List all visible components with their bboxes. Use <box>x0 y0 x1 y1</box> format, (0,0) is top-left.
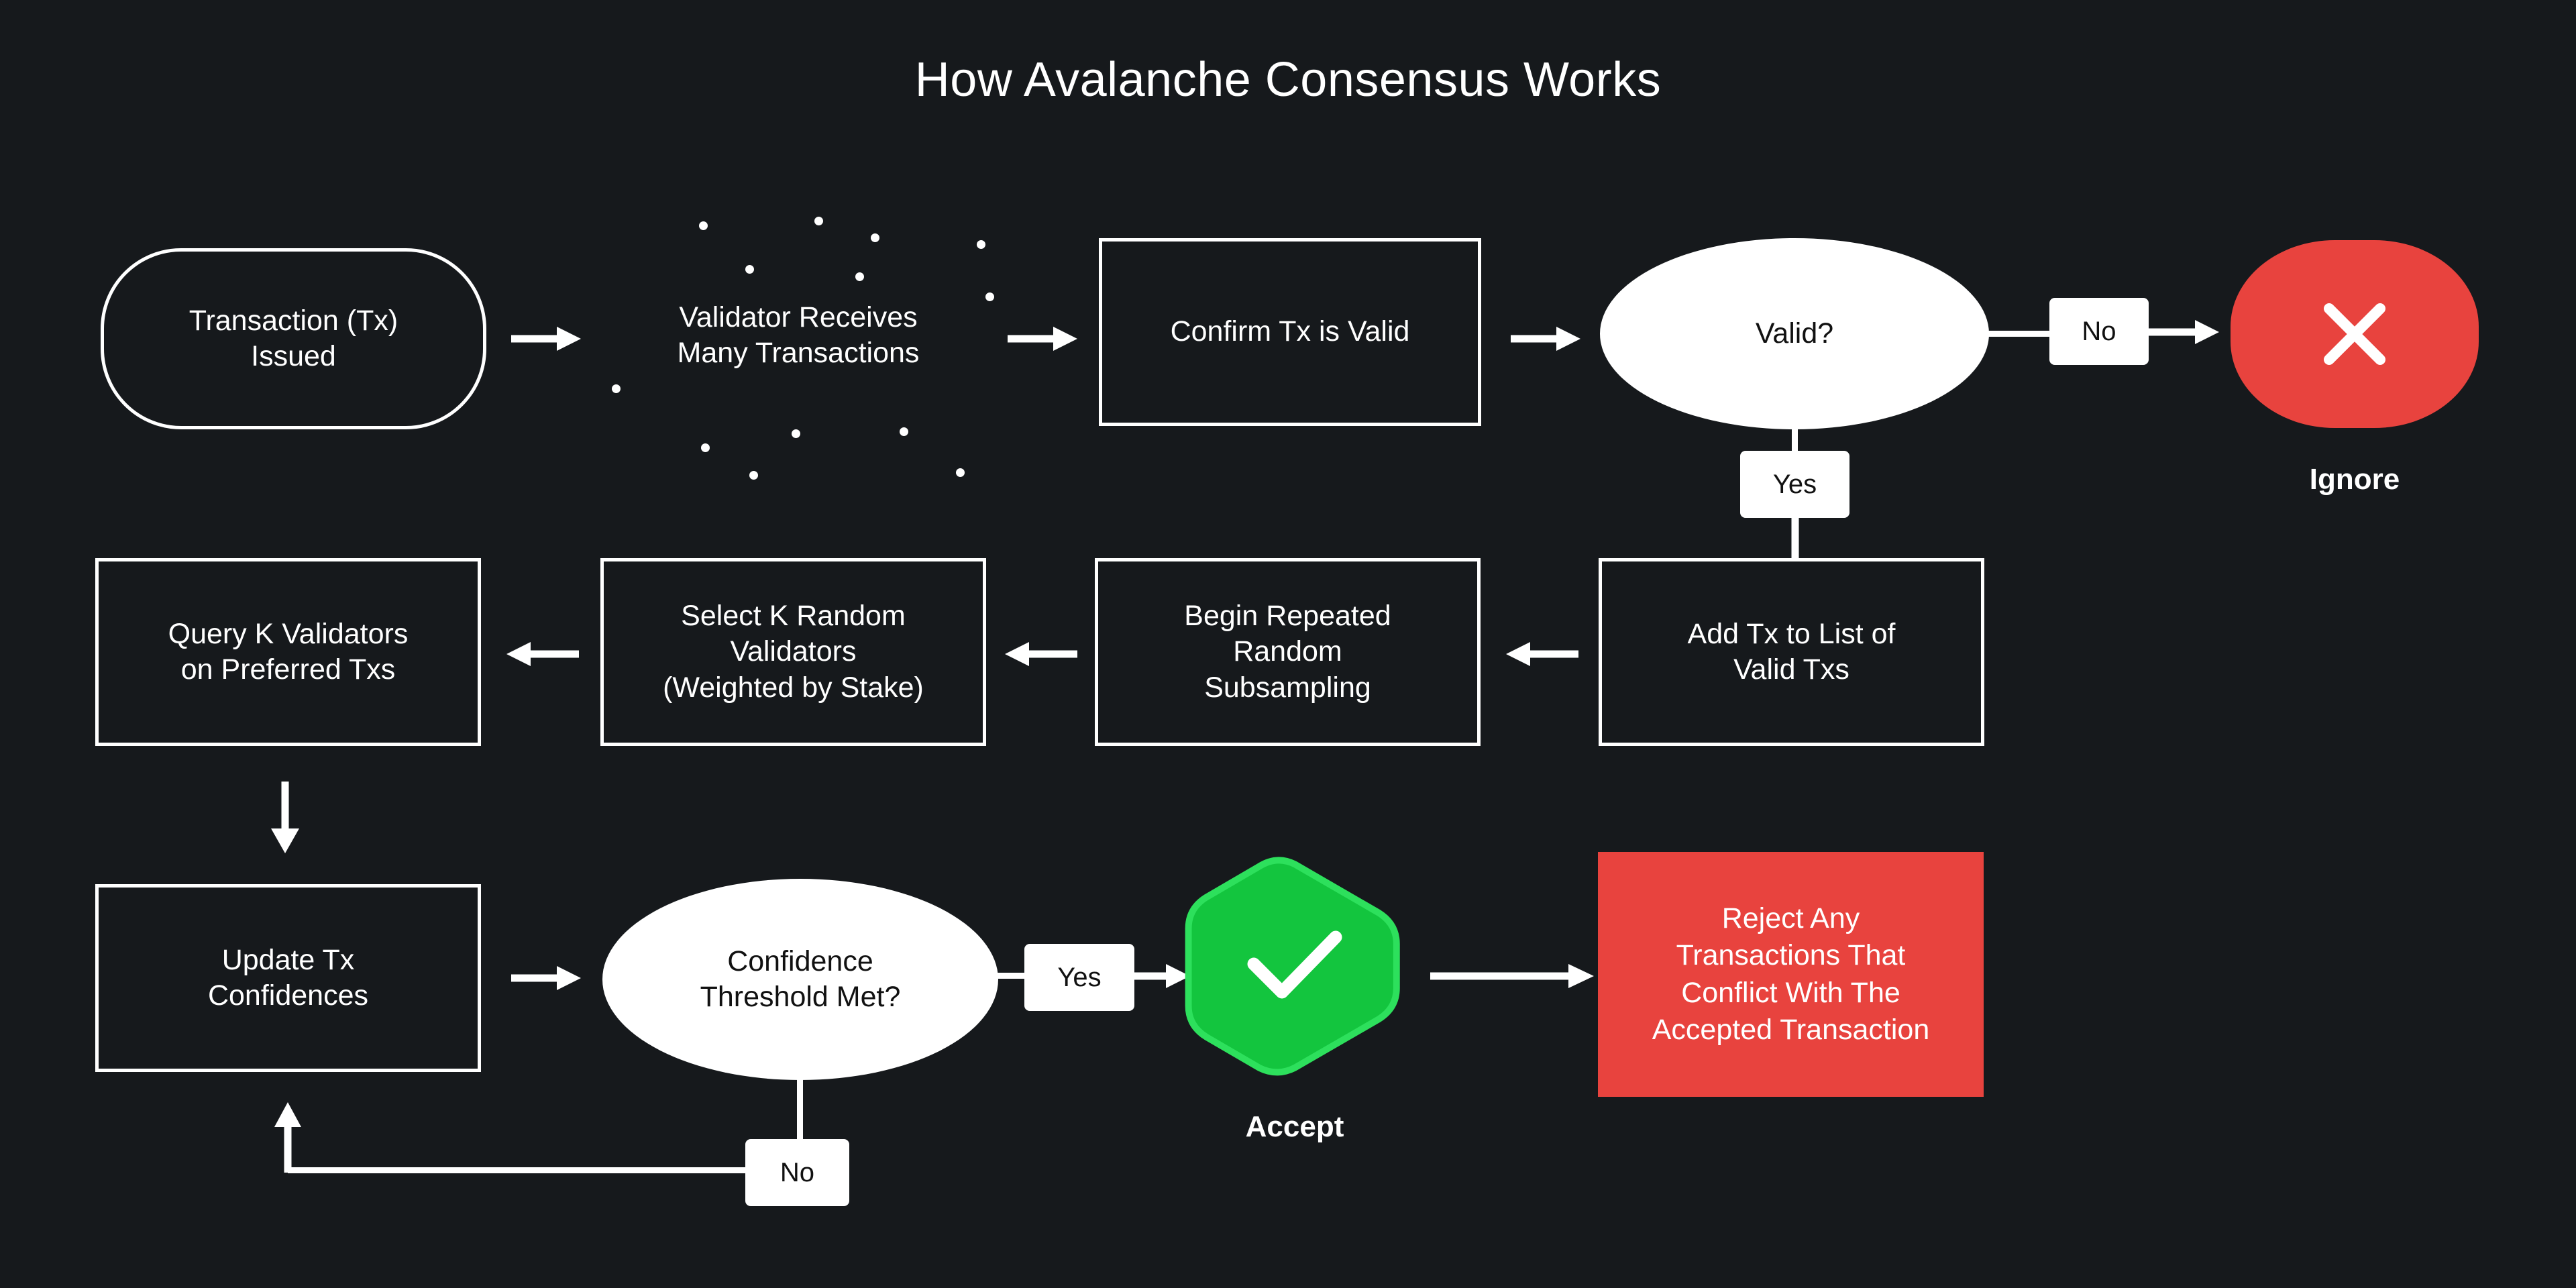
x-mark-icon <box>2314 294 2395 374</box>
arrow-subsampling-to-select <box>998 634 1079 674</box>
node-select-random-validators-label: Select K Random Validators (Weighted by … <box>663 598 924 706</box>
node-reject-conflicts-label: Reject Any Transactions That Conflict Wi… <box>1652 900 1930 1048</box>
node-validator-receives[interactable]: Validator Receives Many Transactions <box>604 268 993 402</box>
arrow-addtx-to-subsampling <box>1499 634 1580 674</box>
node-query-validators-label: Query K Validators on Preferred Txs <box>168 616 409 688</box>
transaction-dot <box>855 272 864 281</box>
transaction-dot <box>977 240 985 249</box>
node-confirm-tx-valid-label: Confirm Tx is Valid <box>1171 314 1410 350</box>
node-transaction-issued[interactable]: Transaction (Tx) Issued <box>101 248 486 429</box>
node-confirm-tx-valid[interactable]: Confirm Tx is Valid <box>1099 238 1481 426</box>
flowchart-canvas: How Avalanche Consensus Works Transactio… <box>0 0 2576 1288</box>
arrow-tx-to-validator <box>510 319 584 359</box>
edge-label-valid-no: No <box>2049 298 2149 365</box>
edge-valid-no-line-left <box>1979 331 2053 337</box>
transaction-dot <box>985 292 994 301</box>
edge-label-confidence-no: No <box>745 1139 849 1206</box>
node-validator-receives-label: Validator Receives Many Transactions <box>678 300 920 372</box>
transaction-dot <box>745 265 754 274</box>
node-confidence-decision[interactable]: Confidence Threshold Met? <box>602 879 998 1080</box>
transaction-dot <box>701 443 710 452</box>
node-begin-subsampling-label: Begin Repeated Random Subsampling <box>1184 598 1391 706</box>
arrow-validator-to-confirm <box>1006 319 1080 359</box>
edge-label-valid-no-text: No <box>2082 317 2116 347</box>
node-transaction-issued-label: Transaction (Tx) Issued <box>189 303 398 375</box>
edge-label-confidence-yes-text: Yes <box>1057 963 1101 993</box>
node-valid-decision-label: Valid? <box>1756 316 1833 352</box>
arrow-update-to-confidence <box>510 958 584 998</box>
arrow-query-to-update <box>265 782 305 855</box>
edge-label-valid-yes: Yes <box>1740 451 1849 518</box>
transaction-dot <box>900 427 908 436</box>
transaction-dot <box>871 233 879 242</box>
transaction-dot <box>699 221 708 230</box>
node-reject-conflicts[interactable]: Reject Any Transactions That Conflict Wi… <box>1598 852 1984 1097</box>
node-update-confidences[interactable]: Update Tx Confidences <box>95 884 481 1072</box>
edge-confidence-no-line-across <box>288 1167 751 1173</box>
check-mark-icon <box>1244 922 1345 1010</box>
arrow-select-to-query <box>500 634 580 674</box>
arrow-valid-no-to-ignore <box>2144 312 2221 352</box>
transaction-dot <box>956 468 965 477</box>
edge-label-confidence-no-text: No <box>780 1158 814 1188</box>
transaction-dot <box>814 217 823 225</box>
node-accept[interactable] <box>1184 855 1405 1077</box>
arrow-confidence-yes-to-accept <box>1131 956 1191 996</box>
node-confidence-decision-label: Confidence Threshold Met? <box>700 944 901 1016</box>
transaction-dot <box>612 384 621 393</box>
transaction-dot <box>749 471 758 480</box>
node-select-random-validators[interactable]: Select K Random Validators (Weighted by … <box>600 558 986 746</box>
arrow-accept-to-reject <box>1429 956 1597 996</box>
arrow-confidence-no-to-update <box>268 1100 309 1174</box>
node-valid-decision[interactable]: Valid? <box>1600 238 1989 429</box>
edge-confidence-yes-line <box>986 973 1030 979</box>
node-begin-subsampling[interactable]: Begin Repeated Random Subsampling <box>1095 558 1481 746</box>
node-accept-caption: Accept <box>1184 1110 1405 1144</box>
transaction-dot <box>792 429 800 438</box>
node-ignore[interactable] <box>2231 240 2479 428</box>
page-title: How Avalanche Consensus Works <box>0 52 2576 107</box>
node-update-confidences-label: Update Tx Confidences <box>208 943 368 1014</box>
edge-label-valid-yes-text: Yes <box>1773 470 1817 500</box>
node-add-tx-valid-list-label: Add Tx to List of Valid Txs <box>1688 616 1896 688</box>
node-query-validators[interactable]: Query K Validators on Preferred Txs <box>95 558 481 746</box>
node-ignore-caption: Ignore <box>2231 463 2479 496</box>
arrow-confirm-to-valid <box>1509 319 1583 359</box>
edge-label-confidence-yes: Yes <box>1024 944 1134 1011</box>
node-add-tx-valid-list[interactable]: Add Tx to List of Valid Txs <box>1599 558 1984 746</box>
